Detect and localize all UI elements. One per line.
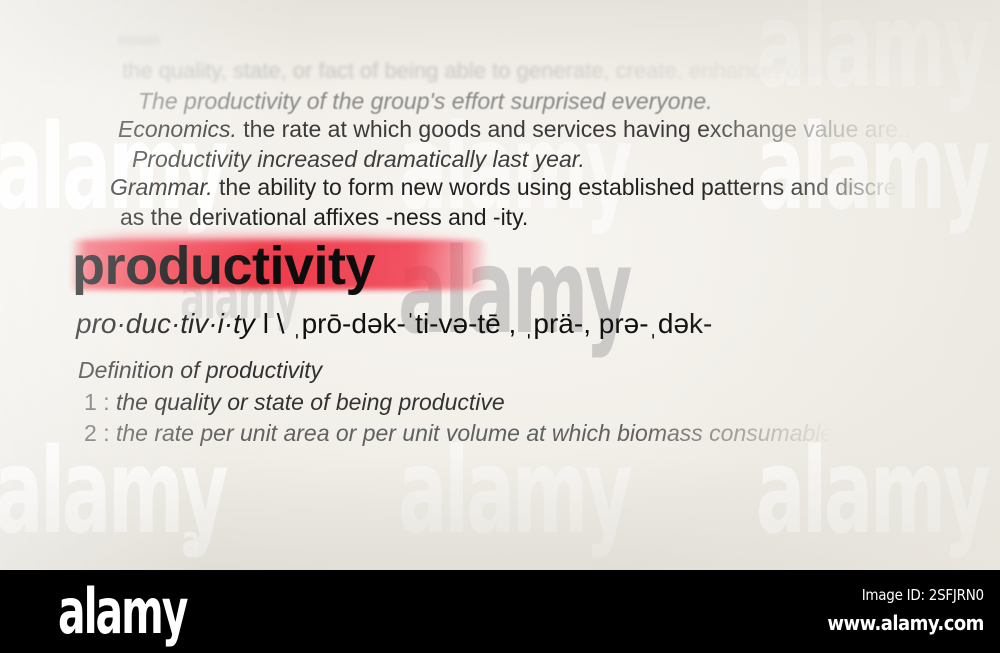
pronunciation-separator-glyph: l \ (263, 308, 285, 339)
pronunciation-ipa: ˌprō-dək-ˈti-və-tē , ˌprä-, prə-ˌdək- (292, 308, 712, 339)
economics-text: the rate at which goods and services hav… (237, 116, 917, 142)
definition-number: 1 (84, 389, 97, 415)
grammar-sense-continuation: as the derivational affixes -ness and -i… (120, 204, 528, 231)
definition-text: the quality or state of being productive (116, 389, 505, 415)
grammar-sense-line: Grammar. the ability to form new words u… (110, 174, 897, 201)
headword-text: productivity (72, 237, 375, 295)
screenshot-root: alamy alamy alamy alamy alamy alamy alam… (0, 0, 1000, 653)
dictionary-entry: noun the quality, state, or fact of bein… (0, 0, 1000, 570)
alamy-website-label: www.alamy.com (828, 611, 984, 635)
pronunciation-line: pro·duc·tiv·i·ty l \ ˌprō-dək-ˈti-və-tē … (76, 308, 712, 340)
faded-sense-line: the quality, state, or fact of being abl… (122, 58, 871, 84)
definition-item: 2 : the rate per unit area or per unit v… (84, 420, 833, 447)
example-sentence-one: The productivity of the group's effort s… (138, 88, 713, 115)
dictionary-page: alamy alamy alamy alamy alamy alamy alam… (0, 0, 1000, 570)
footer-meta: Image ID: 2SFJRN0 www.alamy.com (810, 586, 984, 635)
grammar-label: Grammar. (110, 174, 213, 200)
example-sentence-two: Productivity increased dramatically last… (132, 146, 585, 173)
alamy-footer-bar: alamy Image ID: 2SFJRN0 www.alamy.com (0, 570, 1000, 653)
definition-item: 1 : the quality or state of being produc… (84, 389, 505, 416)
definition-number: 2 (84, 420, 97, 446)
part-of-speech-label: noun (118, 30, 160, 50)
economics-label: Economics. (118, 116, 237, 142)
economics-sense-line: Economics. the rate at which goods and s… (118, 116, 917, 143)
pronunciation-separator (255, 308, 263, 339)
alamy-logo: alamy (58, 579, 186, 644)
headword-block: productivity (72, 237, 375, 299)
definition-text: the rate per unit area or per unit volum… (116, 420, 833, 446)
definition-heading: Definition of productivity (78, 357, 322, 384)
syllabified-word: pro·duc·tiv·i·ty (76, 308, 255, 339)
grammar-text: the ability to form new words using esta… (213, 174, 897, 200)
image-id-label: Image ID: 2SFJRN0 (828, 586, 984, 604)
